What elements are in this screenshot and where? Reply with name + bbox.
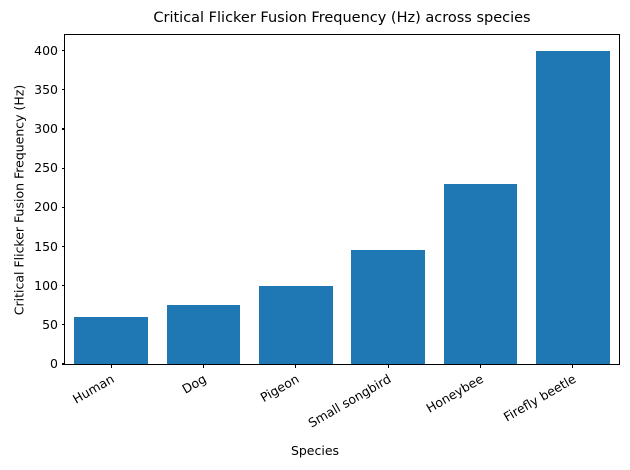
x-tick-label: Dog (180, 371, 209, 397)
x-tick-mark (111, 364, 112, 368)
y-tick-label: 250 (34, 159, 58, 177)
y-axis-label: Critical Flicker Fusion Frequency (Hz) (12, 84, 27, 315)
y-tick-label: 300 (34, 120, 58, 138)
y-tick-mark (62, 168, 66, 169)
y-tick-label: 0 (50, 355, 58, 373)
figure: Critical Flicker Fusion Frequency (Hz) a… (0, 0, 630, 470)
y-tick-label: 150 (34, 238, 58, 256)
bar (351, 250, 425, 364)
y-tick-mark (62, 363, 66, 364)
y-tick-mark (62, 128, 66, 129)
bar (74, 317, 148, 364)
x-tick-mark (480, 364, 481, 368)
y-tick-mark (62, 246, 66, 247)
x-tick-label: Honeybee (424, 371, 486, 416)
y-tick-label: 400 (34, 42, 58, 60)
x-tick-mark (295, 364, 296, 368)
bar (259, 286, 333, 364)
y-tick-mark (62, 89, 66, 90)
x-tick-label: Firefly beetle (501, 371, 579, 424)
bar (444, 184, 518, 364)
y-tick-mark (62, 50, 66, 51)
x-tick-label: Human (70, 371, 117, 407)
plot-area: 050100150200250300350400HumanDogPigeonSm… (65, 35, 619, 364)
y-tick-label: 350 (34, 81, 58, 99)
bar (167, 305, 241, 364)
x-tick-mark (572, 364, 573, 368)
x-tick-label: Small songbird (306, 371, 394, 430)
y-tick-mark (62, 324, 66, 325)
x-tick-mark (388, 364, 389, 368)
y-tick-mark (62, 285, 66, 286)
y-tick-mark (62, 207, 66, 208)
x-axis-label: Species (0, 443, 630, 458)
y-tick-label: 200 (34, 198, 58, 216)
chart-title: Critical Flicker Fusion Frequency (Hz) a… (64, 10, 620, 26)
y-tick-label: 100 (34, 277, 58, 295)
x-tick-mark (203, 364, 204, 368)
bar (536, 51, 610, 364)
plot-axes: Critical Flicker Fusion Frequency (Hz) 0… (64, 34, 620, 365)
x-tick-label: Pigeon (258, 371, 302, 405)
y-tick-label: 50 (42, 316, 58, 334)
